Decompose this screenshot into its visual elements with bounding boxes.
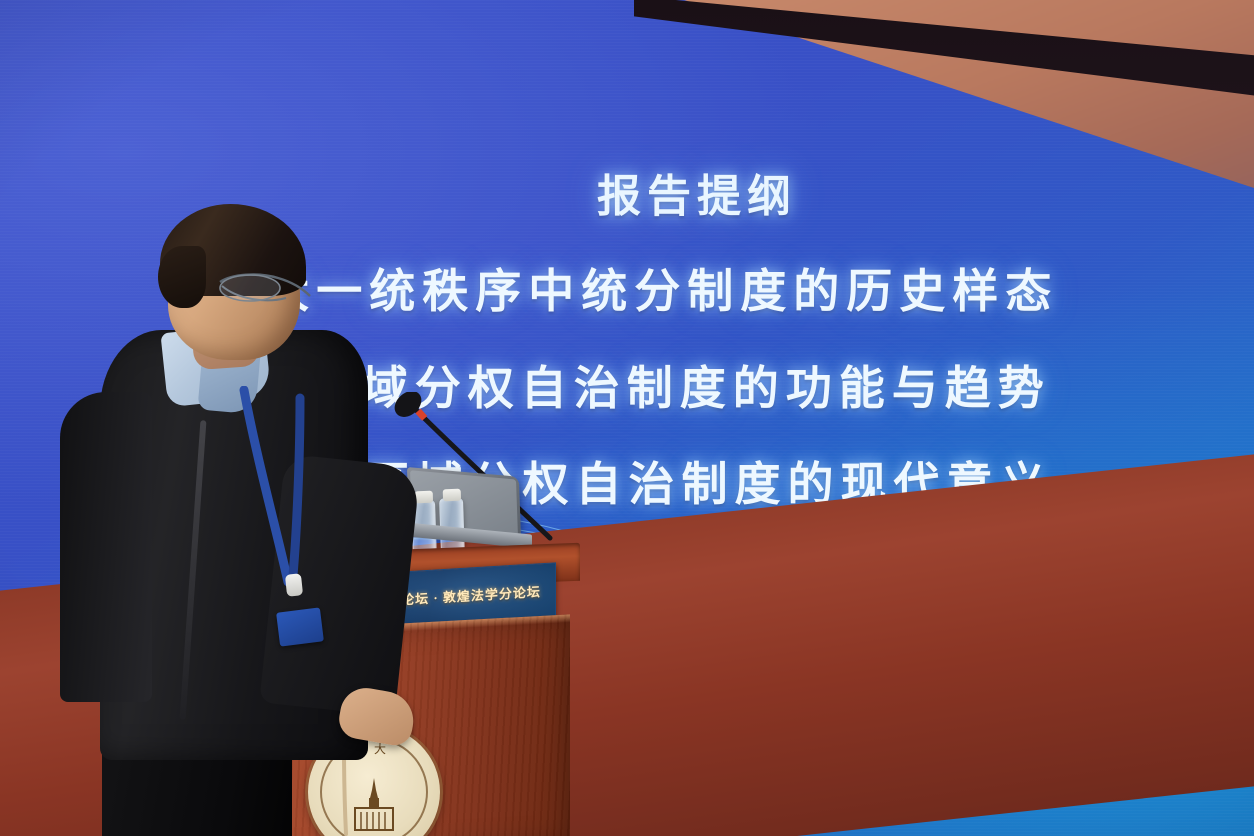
glasses-icon xyxy=(216,268,322,314)
speaker-hair-side xyxy=(158,246,206,308)
name-badge xyxy=(276,607,324,646)
speaker-left-shoulder xyxy=(60,392,152,702)
badge-clip xyxy=(285,573,303,597)
bottle-cap xyxy=(415,491,433,504)
bottle-cap xyxy=(443,489,461,502)
speaker-figure xyxy=(40,210,400,836)
presentation-scene: 报告提纲 1、大一统秩序中统分制度的历史样态 2、区域分权自治制度的功能与趋势 … xyxy=(0,0,1254,836)
